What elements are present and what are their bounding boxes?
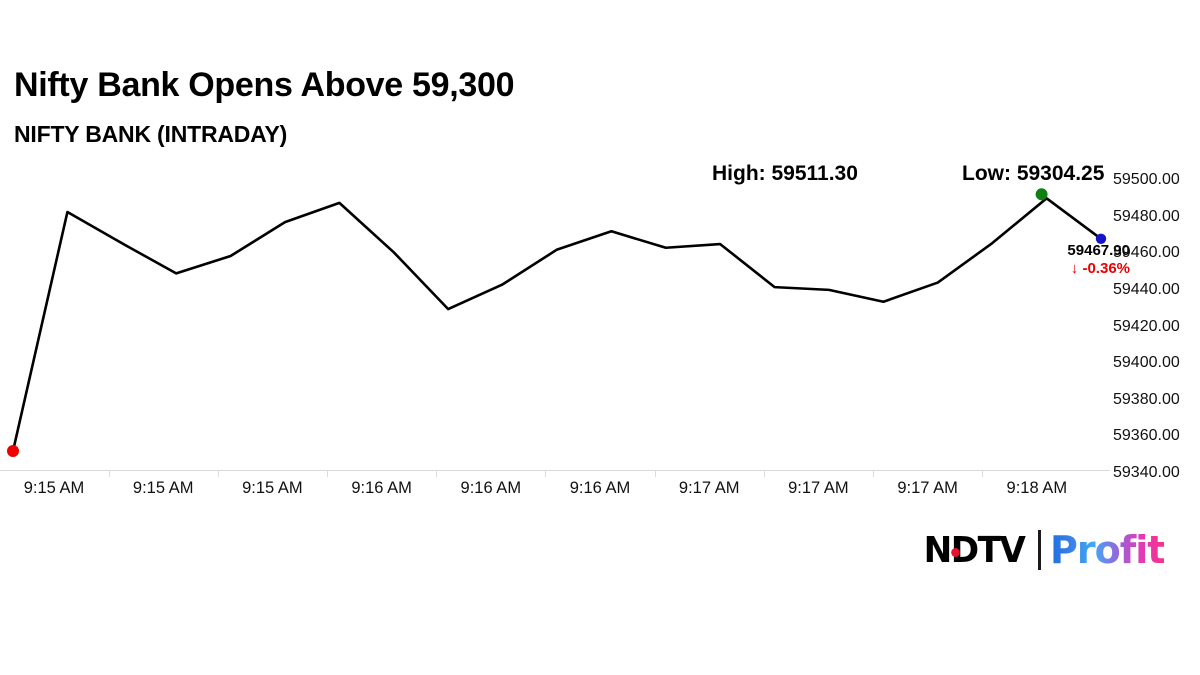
y-axis-tick-label: 59380.00 xyxy=(1113,391,1180,409)
price-line xyxy=(13,198,1101,451)
x-axis-tick-label: 9:17 AM xyxy=(679,479,740,498)
chart-subtitle: NIFTY BANK (INTRADAY) xyxy=(14,121,287,148)
y-axis-tick-label: 59500.00 xyxy=(1113,171,1180,189)
y-axis-tick-label: 59460.00 xyxy=(1113,244,1180,262)
x-axis-tick xyxy=(436,470,437,477)
high-point-marker xyxy=(1036,188,1048,200)
x-axis-tick xyxy=(218,470,219,477)
x-axis-ticks xyxy=(0,470,1110,477)
logo-divider xyxy=(1038,530,1041,570)
profit-wordmark: Profit xyxy=(1050,528,1164,572)
x-axis-tick xyxy=(109,470,110,477)
x-axis-labels: 9:15 AM9:15 AM9:15 AM9:16 AM9:16 AM9:16 … xyxy=(0,479,1110,505)
arrow-down-icon: ↓ xyxy=(1071,261,1079,276)
y-axis-tick-label: 59440.00 xyxy=(1113,281,1180,299)
y-axis-tick-label: 59420.00 xyxy=(1113,318,1180,336)
ndtv-profit-logo: NDTV Profit xyxy=(921,528,1164,572)
x-axis-tick-label: 9:16 AM xyxy=(461,479,522,498)
x-axis-tick-label: 9:15 AM xyxy=(242,479,303,498)
x-axis-tick-label: 9:18 AM xyxy=(1007,479,1068,498)
x-axis-tick-label: 9:15 AM xyxy=(133,479,194,498)
y-axis-tick-label: 59480.00 xyxy=(1113,208,1180,226)
ndtv-wordmark: NDTV xyxy=(924,530,1025,571)
y-axis-tick-label: 59340.00 xyxy=(1113,464,1180,482)
y-axis-tick-label: 59360.00 xyxy=(1113,427,1180,445)
y-axis-tick-label: 59400.00 xyxy=(1113,354,1180,372)
ndtv-text: NDTV xyxy=(924,530,1025,571)
x-axis-tick-label: 9:16 AM xyxy=(351,479,412,498)
ndtv-dot-icon xyxy=(951,548,960,557)
chart-card: Nifty Bank Opens Above 59,300 NIFTY BANK… xyxy=(0,0,1200,675)
x-axis-tick-label: 9:17 AM xyxy=(897,479,958,498)
x-axis-tick xyxy=(655,470,656,477)
x-axis-tick xyxy=(982,470,983,477)
page-title: Nifty Bank Opens Above 59,300 xyxy=(14,66,514,105)
chart-plot-area xyxy=(0,170,1115,475)
x-axis-tick-label: 9:17 AM xyxy=(788,479,849,498)
x-axis-tick xyxy=(327,470,328,477)
intraday-line-chart xyxy=(0,170,1115,475)
x-axis-tick xyxy=(764,470,765,477)
x-axis-tick-label: 9:16 AM xyxy=(570,479,631,498)
x-axis-tick xyxy=(545,470,546,477)
x-axis-tick xyxy=(873,470,874,477)
x-axis-tick-label: 9:15 AM xyxy=(24,479,85,498)
start-point-marker xyxy=(7,445,19,457)
y-axis-labels: 59500.0059480.0059460.0059440.0059420.00… xyxy=(1113,0,1200,675)
